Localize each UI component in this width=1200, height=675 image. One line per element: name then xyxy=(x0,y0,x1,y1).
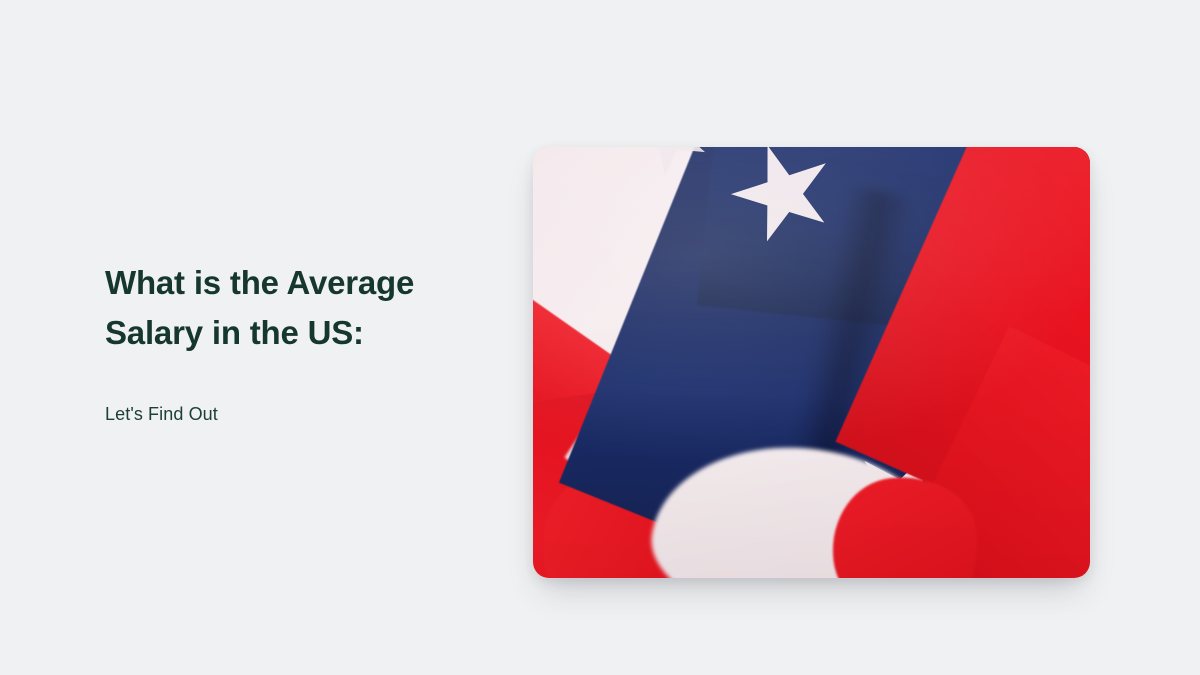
subtitle: Let's Find Out xyxy=(105,358,485,426)
slide-canvas: What is the Average Salary in the US: Le… xyxy=(0,0,1200,675)
us-flag-photo xyxy=(533,147,1090,578)
us-flag-image-card xyxy=(533,147,1090,578)
text-block: What is the Average Salary in the US: Le… xyxy=(105,258,485,426)
page-title: What is the Average Salary in the US: xyxy=(105,258,485,358)
